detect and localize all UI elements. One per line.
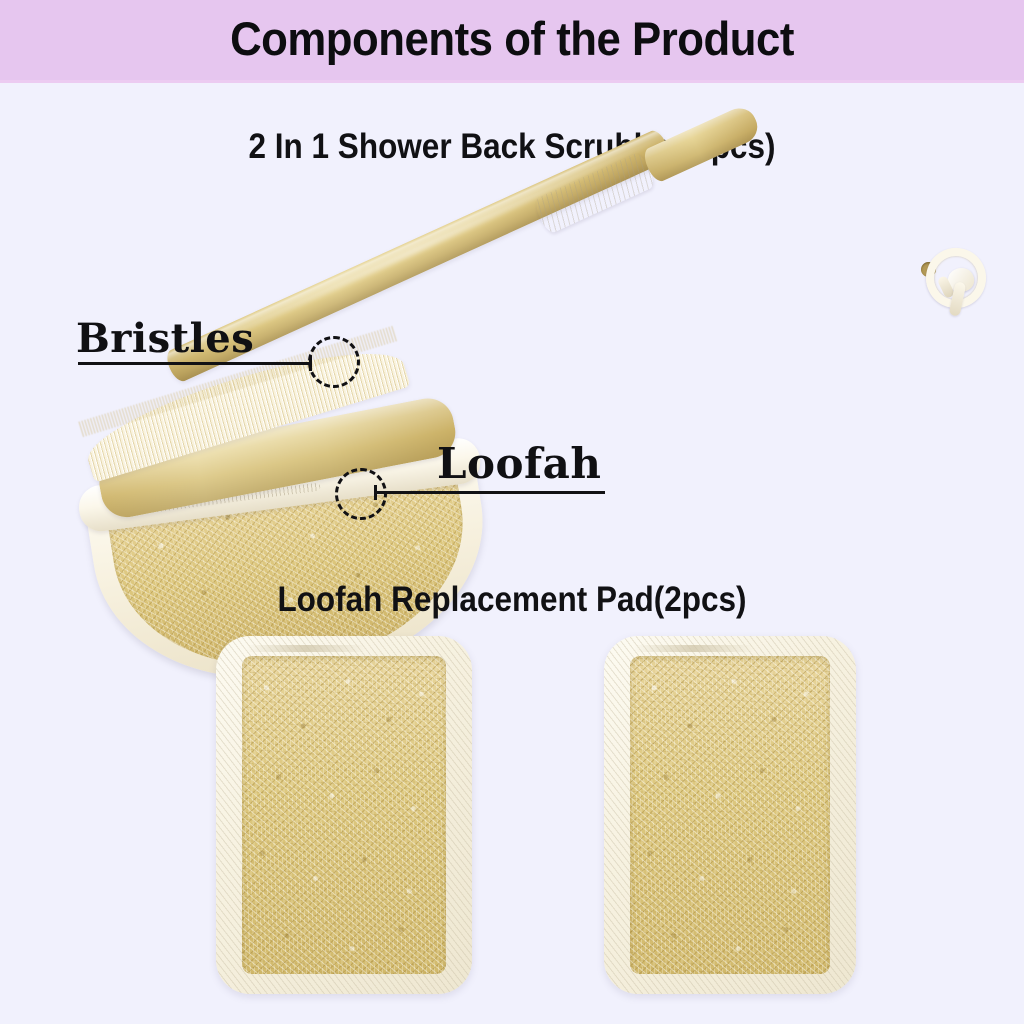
callout-circle-loofah-icon xyxy=(335,468,387,520)
header-underline xyxy=(0,80,1024,83)
callout-leader-bristles xyxy=(78,362,310,365)
callout-leader-loofah xyxy=(374,491,605,494)
page-title: Components of the Product xyxy=(36,8,988,70)
callout-label-bristles: Bristles xyxy=(76,316,254,362)
loofah-pad-seam xyxy=(246,645,366,652)
loofah-replacement-pad xyxy=(216,636,472,994)
infographic-page: Components of the Product 2 In 1 Shower … xyxy=(0,0,1024,1024)
callout-circle-bristles-icon xyxy=(308,336,360,388)
loofah-pad-face xyxy=(630,656,830,974)
caption-loofah-replacement-pad: Loofah Replacement Pad(2pcs) xyxy=(51,578,973,622)
loofah-pad-face xyxy=(242,656,446,974)
callout-label-loofah: Loofah xyxy=(437,440,601,488)
loofah-pad-seam xyxy=(634,645,754,652)
loofah-replacement-pad xyxy=(604,636,856,994)
handle-top-knob xyxy=(641,103,763,185)
